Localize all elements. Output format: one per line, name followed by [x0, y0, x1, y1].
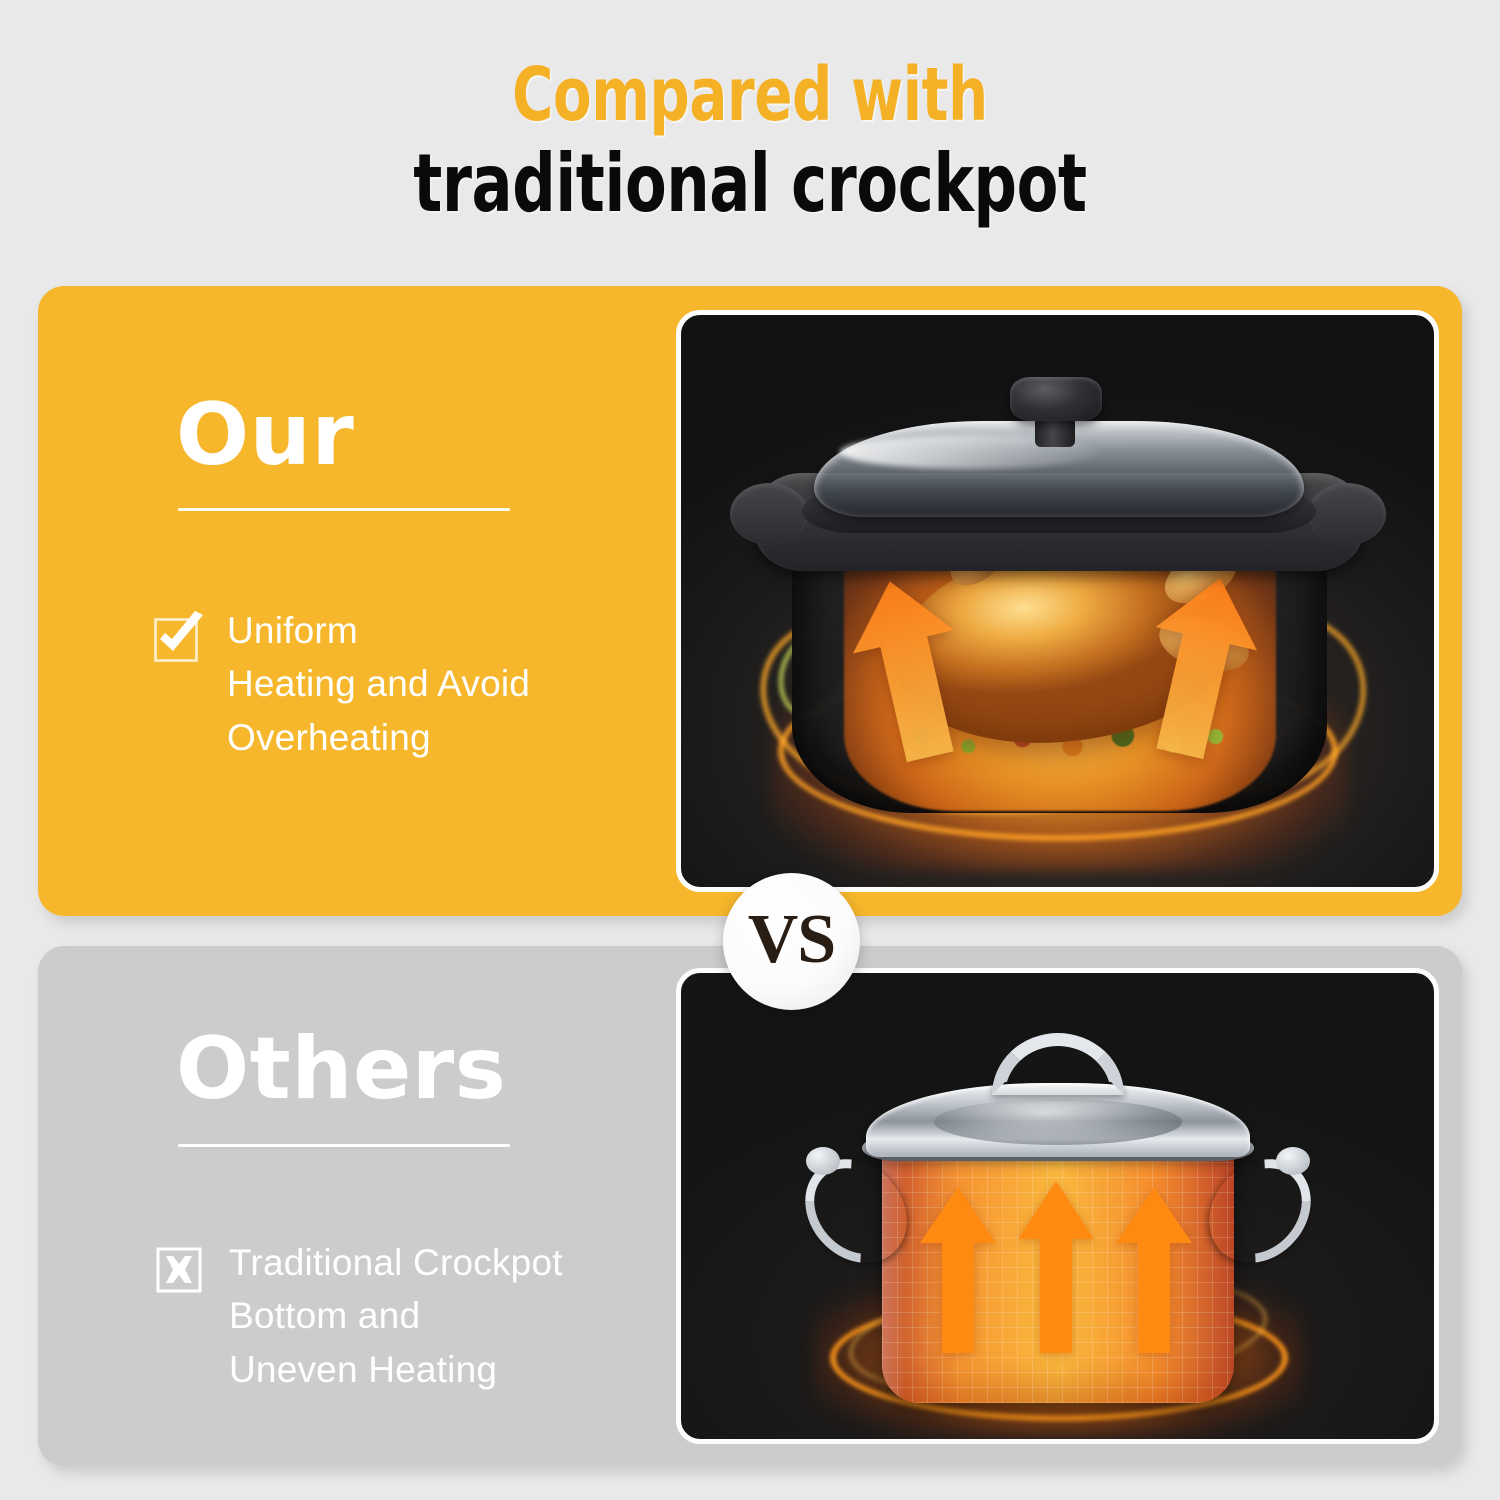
panel-title-our: Our [176, 392, 354, 478]
vs-badge: VS [723, 873, 860, 1010]
heat-arrow-2-icon [1018, 1181, 1094, 1353]
panel-divider-others [178, 1144, 510, 1147]
slow-cooker-illustration [718, 361, 1398, 871]
lid-knob [1010, 377, 1102, 421]
feature-row-others: Traditional Crockpot Bottom and Uneven H… [155, 1236, 563, 1396]
stockpot-handle-tip-left [806, 1147, 840, 1175]
stockpot-illustration [778, 1007, 1338, 1427]
heading-line-primary: Compared with [180, 58, 1320, 132]
product-image-our [676, 310, 1439, 892]
page-title: Compared with traditional crockpot [0, 58, 1500, 224]
cross-mark-icon [155, 1243, 207, 1295]
cooker-handle-right [1308, 483, 1386, 545]
heading-line-secondary: traditional crockpot [180, 144, 1320, 224]
stockpot-lid-reflection [934, 1099, 1182, 1145]
panel-text-column-our: Our Uniform Heating and Avoid Overheatin… [143, 286, 663, 916]
heat-arrow-1-icon [920, 1187, 996, 1353]
feature-text-our: Uniform Heating and Avoid Overheating [227, 604, 530, 764]
stockpot-handle-tip-right [1276, 1147, 1310, 1175]
vs-label: VS [748, 905, 835, 975]
heat-arrow-3-icon [1116, 1187, 1192, 1353]
feature-text-others: Traditional Crockpot Bottom and Uneven H… [229, 1236, 563, 1396]
panel-title-others: Others [176, 1026, 506, 1112]
checkmark-icon [153, 611, 205, 663]
stockpot-lid-handle [992, 1033, 1124, 1095]
product-image-others [676, 968, 1439, 1444]
feature-row-our: Uniform Heating and Avoid Overheating [153, 604, 530, 764]
comparison-panel-our: Our Uniform Heating and Avoid Overheatin… [38, 286, 1462, 916]
panel-divider-our [178, 508, 510, 511]
comparison-panel-others: Others Traditional Crockpot Bottom and U… [38, 946, 1462, 1466]
panel-text-column-others: Others Traditional Crockpot Bottom and U… [143, 946, 663, 1466]
comparison-infographic: Compared with traditional crockpot Our U… [0, 0, 1500, 1500]
cooker-handle-left [730, 483, 808, 545]
